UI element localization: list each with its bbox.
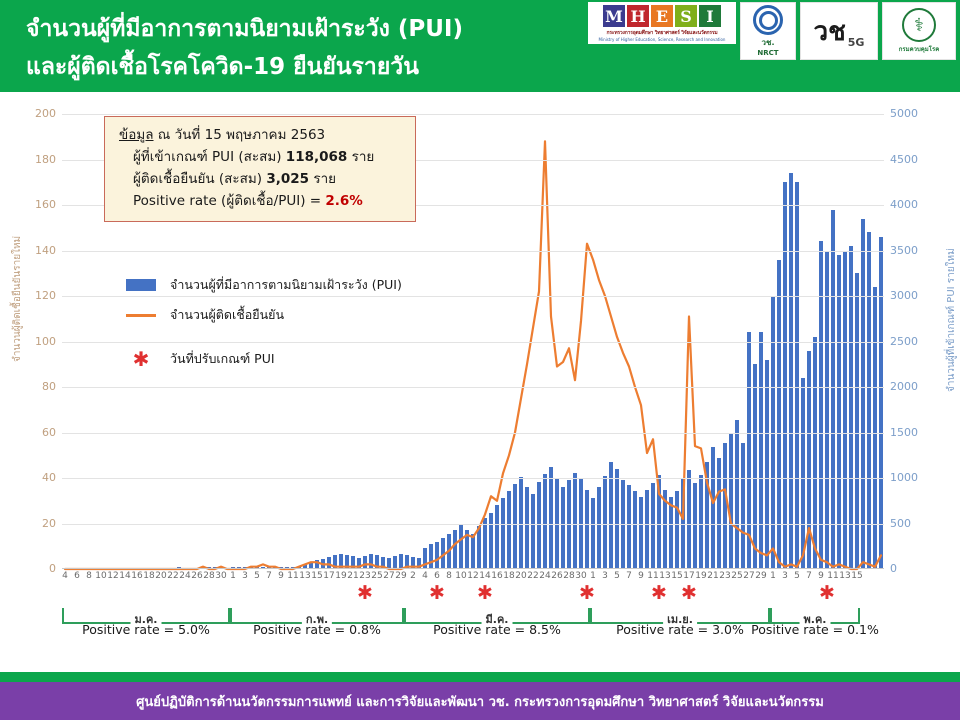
info-line-confirmed: ผู้ติดเชื้อยืนยัน (สะสม) 3,025 ราย [133,168,403,190]
info-line-pui: ผู้ที่เข้าเกณฑ์ PUI (สะสม) 118,068 ราย [133,146,403,168]
x-axis-tick-label: 29 [755,571,766,581]
x-axis-tick-label: 2 [410,571,416,581]
ddc-caption: กรมควบคุมโรค [899,44,939,54]
logo-strip: M H E S I กระทรวงการอุดมศึกษา วิทยาศาสตร… [588,2,956,60]
info-pui-value: 118,068 [286,149,348,165]
x-axis-tick-label: 5 [794,571,800,581]
vch-5g-badge: 5G [848,36,865,49]
info-line-date: ข้อมูล ณ วันที่ 15 พฤษภาคม 2563 [119,124,403,146]
x-axis-tick-label: 25 [731,571,742,581]
x-axis-tick-label: 17 [323,571,334,581]
x-axis-tick-label: 23 [719,571,730,581]
x-axis-tick-label: 3 [782,571,788,581]
info-pui-prefix: ผู้ที่เข้าเกณฑ์ PUI (สะสม) [133,149,286,165]
criteria-change-marker-icon: ✱ [579,584,595,603]
x-axis-tick-label: 21 [707,571,718,581]
x-axis-tick-label: 26 [191,571,202,581]
info-rate-value: 2.6% [325,193,362,209]
caduceus-icon: ⚕ [902,8,936,42]
mhesi-letter-h: H [627,5,649,27]
x-axis-tick-label: 4 [422,571,428,581]
x-axis-tick-label: 15 [851,571,862,581]
positive-rate-label: Positive rate = 5.0% [82,622,210,637]
x-axis-tick-label: 29 [395,571,406,581]
x-axis-tick-label: 17 [683,571,694,581]
x-axis-tick-label: 9 [638,571,644,581]
legend-item-pui: จำนวนผู้ที่มีอาการตามนิยามเฝ้าระวัง (PUI… [126,270,402,300]
x-axis-tick-label: 16 [131,571,142,581]
gridline [62,114,884,115]
asterisk-icon: ✱ [126,353,156,365]
chart-legend: จำนวนผู้ที่มีอาการตามนิยามเฝ้าระวัง (PUI… [126,270,402,374]
ddc-logo: ⚕ กรมควบคุมโรค [882,2,956,60]
mhesi-logo: M H E S I กระทรวงการอุดมศึกษา วิทยาศาสตร… [588,2,736,44]
x-axis-tick-label: 11 [827,571,838,581]
x-axis-tick-label: 8 [86,571,92,581]
y-axis-left-tick: 160 [35,198,62,211]
x-axis-tick-label: 10 [95,571,106,581]
y-axis-left-tick: 60 [42,426,62,439]
nrct-label-th: วช. [762,36,775,49]
y-axis-right-tick: 500 [884,517,911,530]
y-axis-left-tick: 0 [49,562,62,575]
legend-item-criteria: ✱ วันที่ปรับเกณฑ์ PUI [126,344,402,374]
nrct-label-en: NRCT [757,49,778,57]
x-axis-tick-label: 10 [455,571,466,581]
info-date-value: ณ วันที่ 15 พฤษภาคม 2563 [154,127,326,143]
y-axis-left-tick: 40 [42,471,62,484]
x-axis-tick-label: 22 [167,571,178,581]
legend-label-criteria: วันที่ปรับเกณฑ์ PUI [170,349,275,369]
info-pui-suffix: ราย [347,149,374,165]
legend-label-confirmed: จำนวนผู้ติดเชื้อยืนยัน [170,305,284,325]
info-confirmed-value: 3,025 [266,171,309,187]
x-axis-tick-label: 12 [467,571,478,581]
x-axis-tick-label: 24 [539,571,550,581]
x-axis-tick-label: 30 [575,571,586,581]
y-axis-right-tick: 4500 [884,153,918,166]
x-axis-tick-label: 3 [602,571,608,581]
nrct-emblem-icon [753,5,783,35]
x-axis-tick-label: 13 [299,571,310,581]
mhesi-subtitle-th: กระทรวงการอุดมศึกษา วิทยาศาสตร์ วิจัยและ… [591,29,733,37]
gridline [62,478,884,479]
x-axis-tick-label: 1 [770,571,776,581]
summary-info-box: ข้อมูล ณ วันที่ 15 พฤษภาคม 2563 ผู้ที่เข… [104,116,416,222]
x-axis-tick-label: 11 [287,571,298,581]
criteria-change-marker-icon: ✱ [651,584,667,603]
positive-rate-annotations: Positive rate = 5.0%Positive rate = 0.8%… [62,622,884,646]
x-axis-tick-label: 6 [434,571,440,581]
nrct-logo: วช. NRCT [740,2,796,60]
x-axis-tick-label: 28 [563,571,574,581]
gridline [62,433,884,434]
y-axis-right-tick: 2500 [884,335,918,348]
mhesi-letters: M H E S I [603,5,721,27]
y-axis-right-tick: 3000 [884,289,918,302]
x-axis-tick-label: 1 [230,571,236,581]
info-rate-prefix: Positive rate (ผู้ติดเชื้อ/PUI) = [133,193,325,209]
x-axis-tick-label: 30 [215,571,226,581]
positive-rate-label: Positive rate = 8.5% [433,622,561,637]
y-axis-right-tick: 2000 [884,380,918,393]
y-axis-left-tick: 200 [35,107,62,120]
info-date-label: ข้อมูล [119,127,154,143]
x-axis-tick-label: 27 [383,571,394,581]
y-axis-left-tick: 140 [35,244,62,257]
x-axis-tick-label: 5 [254,571,260,581]
x-axis-line [62,568,884,569]
y-axis-left-tick: 100 [35,335,62,348]
x-axis-tick-label: 22 [527,571,538,581]
x-axis-tick-label: 4 [62,571,68,581]
x-axis-tick-label: 9 [818,571,824,581]
x-axis-tick-label: 7 [266,571,272,581]
positive-rate-label: Positive rate = 3.0% [616,622,744,637]
y-axis-right-tick: 5000 [884,107,918,120]
y-axis-right-title: จำนวนผู้ที่เข้าเกณฑ์ PUI รายใหม่ [944,248,959,392]
y-axis-right-tick: 3500 [884,244,918,257]
x-axis-tick-label: 20 [515,571,526,581]
x-axis-tick-label: 3 [242,571,248,581]
gridline [62,387,884,388]
x-axis-tick-label: 11 [647,571,658,581]
footer-accent-bar [0,672,960,682]
legend-label-pui: จำนวนผู้ที่มีอาการตามนิยามเฝ้าระวัง (PUI… [170,275,402,295]
x-axis-tick-label: 18 [143,571,154,581]
legend-bar-swatch-icon [126,279,156,291]
x-axis-tick-label: 28 [203,571,214,581]
page-header: จำนวนผู้ที่มีอาการตามนิยามเฝ้าระวัง (PUI… [0,0,960,92]
criteria-change-marker-icon: ✱ [477,584,493,603]
x-axis-tick-label: 9 [278,571,284,581]
x-axis-tick-label: 13 [839,571,850,581]
x-axis-tick-label: 24 [179,571,190,581]
page-footer: ศูนย์ปฏิบัติการด้านนวัตกรรมการแพทย์ และก… [0,682,960,720]
y-axis-left-title: จำนวนผู้ติดเชื้อยืนยันรายใหม่ [10,236,25,362]
x-axis-tick-label: 14 [119,571,130,581]
criteria-change-marker-icon: ✱ [681,584,697,603]
x-axis-tick-label: 18 [503,571,514,581]
y-axis-right-tick: 1500 [884,426,918,439]
x-axis-tick-label: 15 [671,571,682,581]
x-axis-tick-label: 16 [491,571,502,581]
vch-mark-icon: วช [814,11,846,52]
vch-5g-logo: วช 5G [800,2,878,60]
x-axis-tick-label: 23 [359,571,370,581]
y-axis-left-tick: 20 [42,517,62,530]
criteria-change-marker-icon: ✱ [357,584,373,603]
positive-rate-label: Positive rate = 0.1% [751,622,879,637]
x-axis-tick-label: 27 [743,571,754,581]
gridline [62,524,884,525]
x-axis-tick-label: 19 [695,571,706,581]
footer-text: ศูนย์ปฏิบัติการด้านนวัตกรรมการแพทย์ และก… [136,691,824,712]
legend-line-swatch-icon [126,314,156,317]
x-axis-tick-label: 8 [446,571,452,581]
x-axis-tick-label: 12 [107,571,118,581]
positive-rate-label: Positive rate = 0.8% [253,622,381,637]
x-axis-tick-label: 15 [311,571,322,581]
criteria-change-marker-icon: ✱ [819,584,835,603]
mhesi-letter-s: S [675,5,697,27]
y-axis-right-tick: 1000 [884,471,918,484]
x-axis-tick-label: 20 [155,571,166,581]
legend-item-confirmed: จำนวนผู้ติดเชื้อยืนยัน [126,300,402,330]
x-axis-tick-label: 26 [551,571,562,581]
y-axis-left-tick: 120 [35,289,62,302]
mhesi-letter-m: M [603,5,625,27]
x-axis-tick-label: 7 [626,571,632,581]
page-title: จำนวนผู้ที่มีอาการตามนิยามเฝ้าระวัง (PUI… [26,10,636,86]
mhesi-letter-e: E [651,5,673,27]
y-axis-right-tick: 4000 [884,198,918,211]
x-axis-tick-label: 25 [371,571,382,581]
y-axis-left-tick: 180 [35,153,62,166]
x-axis-tick-label: 13 [659,571,670,581]
info-line-positive-rate: Positive rate (ผู้ติดเชื้อ/PUI) = 2.6% [133,190,403,212]
criteria-change-markers: ✱✱✱✱✱✱✱ [62,584,884,606]
mhesi-subtitle-en: Ministry of Higher Education, Science, R… [591,37,733,42]
info-confirmed-prefix: ผู้ติดเชื้อยืนยัน (สะสม) [133,171,266,187]
y-axis-left-tick: 80 [42,380,62,393]
criteria-change-marker-icon: ✱ [429,584,445,603]
x-axis-tick-label: 14 [479,571,490,581]
x-axis-tick-label: 19 [335,571,346,581]
x-axis-tick-label: 1 [590,571,596,581]
y-axis-right-tick: 0 [884,562,897,575]
info-confirmed-suffix: ราย [309,171,336,187]
mhesi-letter-i: I [699,5,721,27]
x-axis-tick-label: 5 [614,571,620,581]
gridline [62,251,884,252]
x-axis-tick-label: 6 [74,571,80,581]
x-axis-tick-label: 21 [347,571,358,581]
chart-area: จำนวนผู้ติดเชื้อยืนยันรายใหม่ จำนวนผู้ที… [0,92,960,660]
x-axis-tick-label: 7 [806,571,812,581]
